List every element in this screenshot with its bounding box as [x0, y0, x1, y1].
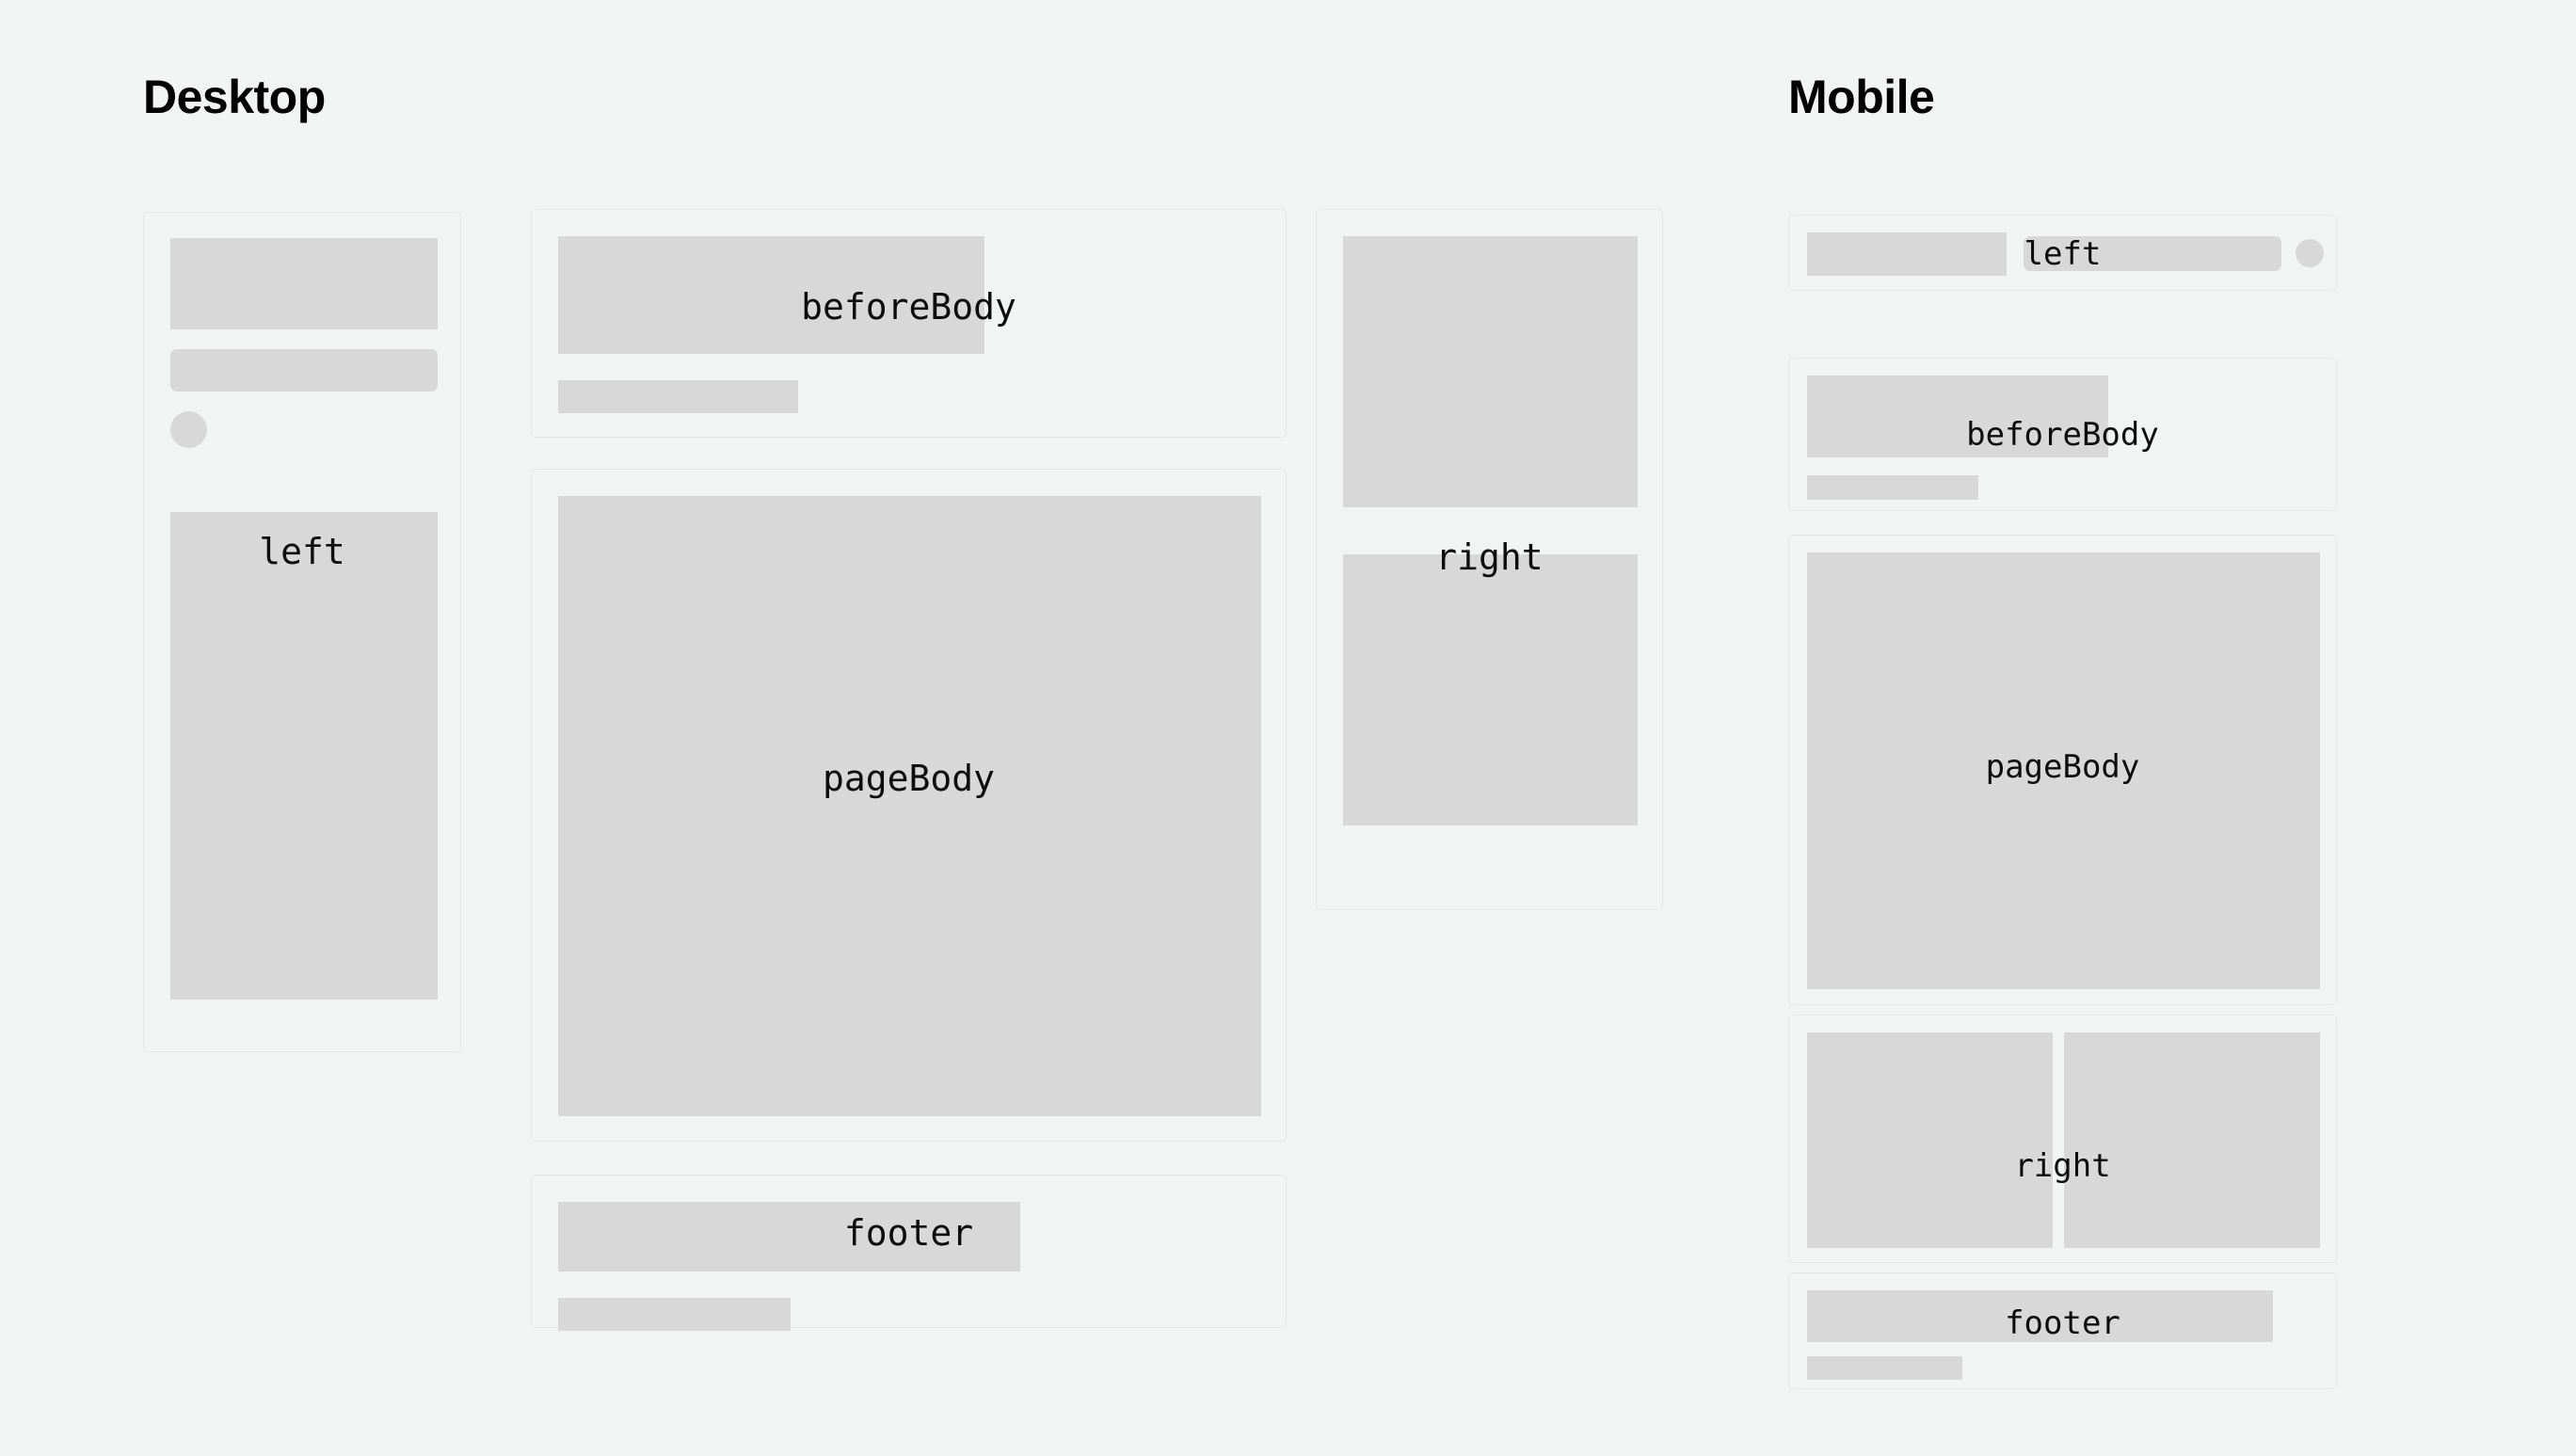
placeholder-bottom-block — [1343, 554, 1638, 825]
desktop-pagebody-region-label: pageBody — [531, 760, 1287, 796]
placeholder-main-block — [170, 512, 438, 1000]
desktop-pagebody-region-panel[interactable] — [531, 469, 1287, 1142]
placeholder-bar-block — [1807, 475, 1978, 500]
desktop-footer-region-label: footer — [531, 1215, 1287, 1251]
placeholder-block-b — [2064, 1032, 2320, 1248]
mobile-beforebody-region-label: beforeBody — [1788, 419, 2337, 451]
placeholder-top-block — [1343, 236, 1638, 507]
mobile-column-title: Mobile — [1788, 73, 1934, 120]
desktop-column-title: Desktop — [143, 73, 326, 120]
placeholder-bar-block — [558, 1298, 791, 1331]
mobile-footer-region-label: footer — [1788, 1307, 2337, 1339]
placeholder-block-a — [1807, 1032, 2053, 1248]
desktop-right-region-label: right — [1316, 539, 1663, 575]
desktop-left-region-label: left — [143, 534, 461, 569]
mobile-left-region-label: left — [1788, 238, 2337, 270]
placeholder-dot-block — [170, 411, 207, 448]
mobile-right-region-panel[interactable] — [1788, 1015, 2337, 1263]
placeholder-hero-block — [170, 238, 438, 329]
mobile-pagebody-region-label: pageBody — [1788, 751, 2337, 783]
desktop-left-region-panel[interactable] — [143, 212, 461, 1052]
placeholder-bar-block — [558, 380, 798, 413]
desktop-beforebody-region-label: beforeBody — [531, 289, 1287, 325]
placeholder-bar-block — [170, 349, 438, 392]
placeholder-bar-block — [1807, 1356, 1962, 1380]
placeholder-main-block — [558, 496, 1261, 1116]
mobile-right-region-label: right — [1788, 1150, 2337, 1182]
